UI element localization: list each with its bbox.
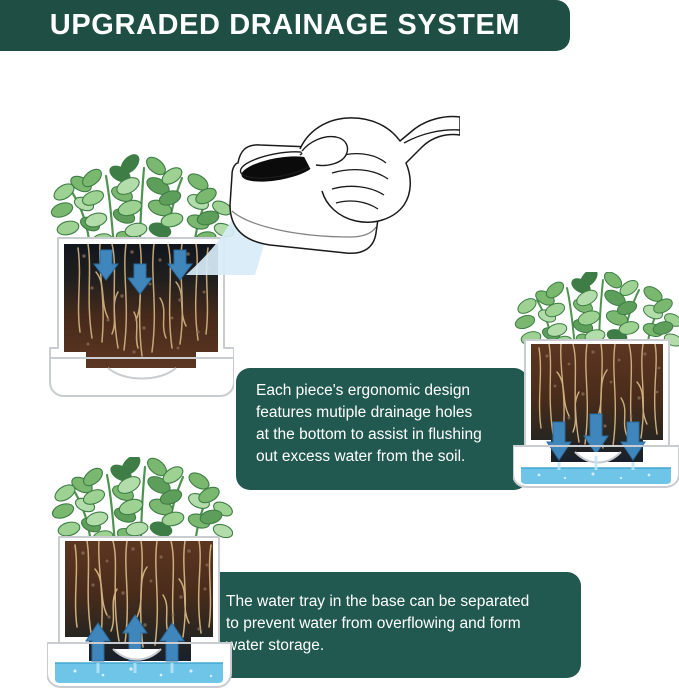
callout-water-tray: The water tray in the base can be separa… xyxy=(196,572,581,678)
page-title: UPGRADED DRAINAGE SYSTEM xyxy=(50,11,520,40)
planter-wicking-from-tray-illustration xyxy=(47,457,233,691)
callout-drainage-text: Each piece's ergonomic design features m… xyxy=(256,380,514,468)
header-banner: UPGRADED DRAINAGE SYSTEM xyxy=(0,0,570,51)
water-tray xyxy=(55,663,223,683)
hand-pouring-watering-can-icon xyxy=(150,85,460,275)
foliage xyxy=(514,272,679,349)
callout-drainage: Each piece's ergonomic design features m… xyxy=(236,368,528,490)
callout-water-tray-text: The water tray in the base can be separa… xyxy=(226,591,567,657)
illustration-canvas: UPGRADED DRAINAGE SYSTEM xyxy=(0,0,679,691)
foliage xyxy=(50,457,233,545)
planter-draining-into-tray-illustration xyxy=(513,272,679,494)
